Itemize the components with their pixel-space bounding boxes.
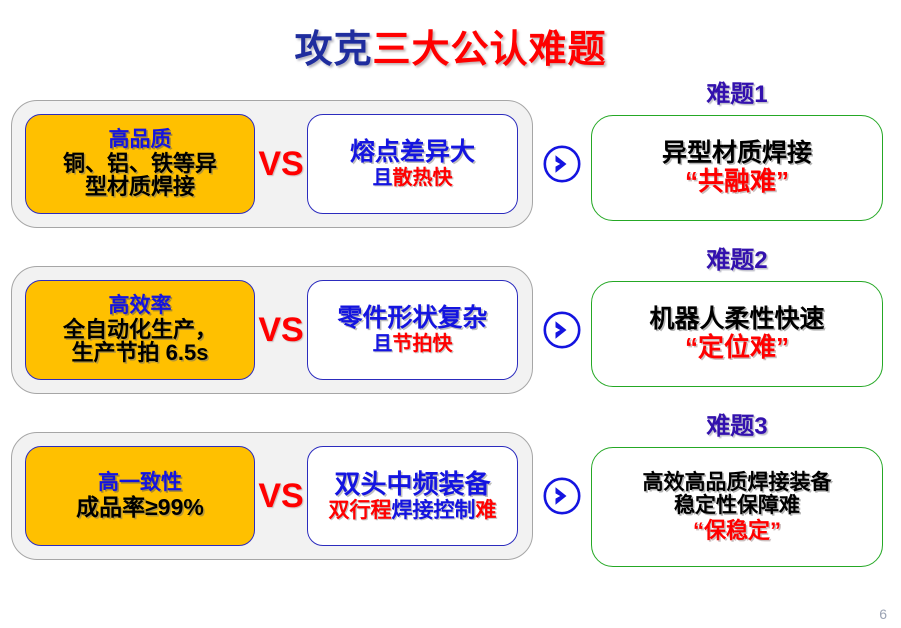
difficulty-subline-2-blue: 且 [373, 333, 393, 355]
requirement-card-1[interactable]: 高品质 铜、铝、铁等异 型材质焊接 [25, 114, 255, 214]
vs-label-1: VS [255, 145, 307, 184]
challenge-row-1: 高品质 铜、铝、铁等异 型材质焊接 VS 熔点差异大 且散热快 难题1 异型材质… [0, 74, 901, 234]
page-title: 攻克三大公认难题 [0, 18, 901, 73]
difficulty-subline-1: 且散热快 [373, 167, 453, 189]
comparison-shell-2: 高效率 全自动化生产， 生产节拍 6.5s VS 零件形状复杂 且节拍快 [11, 266, 533, 394]
requirement-heading-1: 高品质 [109, 129, 172, 152]
comparison-shell-1: 高品质 铜、铝、铁等异 型材质焊接 VS 熔点差异大 且散热快 [11, 100, 533, 228]
result-label-2: 难题2 [591, 240, 883, 275]
requirement-heading-2: 高效率 [109, 295, 172, 318]
result-text-3a: 高效高品质焊接装备 [643, 471, 832, 495]
vs-label-3: VS [255, 477, 307, 516]
requirement-card-3[interactable]: 高一致性 成品率≥99% [25, 446, 255, 546]
result-keyword-1: “共融难” [685, 167, 789, 197]
difficulty-subline-3: 双行程焊接控制难 [329, 499, 497, 522]
challenge-row-3: 高一致性 成品率≥99% VS 双头中频装备 双行程焊接控制难 难题3 高效高品… [0, 406, 901, 588]
difficulty-card-1[interactable]: 熔点差异大 且散热快 [307, 114, 518, 214]
circle-chevron-right-icon [542, 310, 582, 350]
difficulty-subline-2: 且节拍快 [373, 333, 453, 355]
requirement-body-line-3a: 成品率≥99% [76, 495, 204, 520]
challenge-row-2: 高效率 全自动化生产， 生产节拍 6.5s VS 零件形状复杂 且节拍快 难题2… [0, 240, 901, 400]
difficulty-card-2[interactable]: 零件形状复杂 且节拍快 [307, 280, 518, 380]
difficulty-heading-2: 零件形状复杂 [337, 305, 487, 333]
difficulty-subline-1-blue: 且 [373, 167, 393, 189]
page-title-prefix: 攻克 [294, 29, 372, 71]
result-text-1a: 异型材质焊接 [662, 139, 812, 168]
difficulty-subline-3-blue: 焊接控制 [392, 499, 476, 522]
circle-chevron-right-icon [542, 144, 582, 184]
result-text-2a: 机器人柔性快速 [649, 305, 824, 334]
requirement-body-line-2a: 全自动化生产， [63, 318, 217, 342]
comparison-shell-3: 高一致性 成品率≥99% VS 双头中频装备 双行程焊接控制难 [11, 432, 533, 560]
result-card-1[interactable]: 异型材质焊接 “共融难” [591, 115, 883, 221]
result-card-3[interactable]: 高效高品质焊接装备 稳定性保障难 “保稳定” [591, 447, 883, 567]
result-text-3b: 稳定性保障难 [674, 494, 800, 518]
difficulty-subline-2-red: 节拍快 [393, 333, 453, 355]
difficulty-subline-3-red-1: 双行程 [329, 499, 392, 522]
requirement-body-line-1a: 铜、铝、铁等异 [63, 152, 217, 176]
result-label-3: 难题3 [591, 406, 883, 441]
result-column-1: 难题1 异型材质焊接 “共融难” [591, 74, 883, 221]
difficulty-subline-1-red: 散热快 [393, 167, 453, 189]
result-keyword-3: “保稳定” [693, 518, 781, 543]
difficulty-card-3[interactable]: 双头中频装备 双行程焊接控制难 [307, 446, 518, 546]
page-title-highlight: 三大公认难题 [373, 29, 607, 71]
difficulty-subline-3-red-2: 难 [476, 499, 497, 522]
requirement-heading-3: 高一致性 [98, 472, 182, 495]
vs-label-2: VS [255, 311, 307, 350]
result-column-2: 难题2 机器人柔性快速 “定位难” [591, 240, 883, 387]
result-label-1: 难题1 [591, 74, 883, 109]
result-column-3: 难题3 高效高品质焊接装备 稳定性保障难 “保稳定” [591, 406, 883, 567]
difficulty-heading-1: 熔点差异大 [350, 139, 475, 167]
circle-chevron-right-icon [542, 476, 582, 516]
requirement-card-2[interactable]: 高效率 全自动化生产， 生产节拍 6.5s [25, 280, 255, 380]
result-keyword-2: “定位难” [685, 333, 789, 363]
page-number: 6 [879, 606, 887, 622]
requirement-body-line-2b: 生产节拍 6.5s [72, 341, 209, 365]
result-card-2[interactable]: 机器人柔性快速 “定位难” [591, 281, 883, 387]
requirement-body-line-1b: 型材质焊接 [85, 175, 195, 199]
difficulty-heading-3: 双头中频装备 [334, 470, 490, 499]
